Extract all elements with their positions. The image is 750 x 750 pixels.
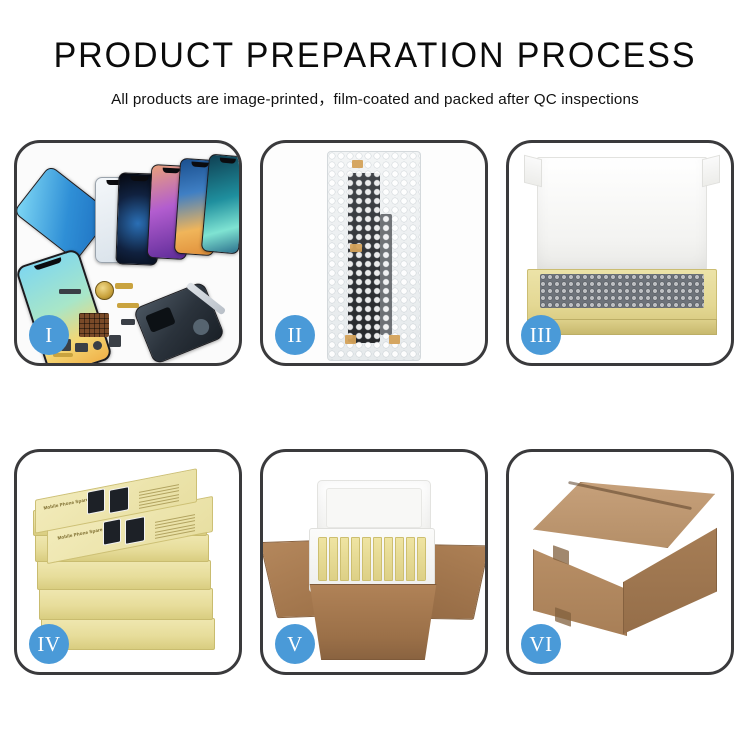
flex-cable-part: [115, 283, 133, 289]
step-panel-4: Mobile Phone Spare Parts Mobile Phone Sp…: [14, 449, 242, 675]
step-panel-2: II: [260, 140, 488, 366]
bubble-wrap-bag: [327, 151, 421, 361]
step-badge-2: II: [275, 315, 315, 355]
small-part: [121, 319, 135, 325]
packed-retail-boxes: [318, 537, 426, 581]
shipping-carton-open: [301, 584, 445, 660]
small-part: [109, 335, 121, 347]
retail-box-side: [37, 560, 211, 590]
bubble-wrapped-contents: [540, 274, 704, 308]
small-part: [93, 341, 102, 350]
step-panel-6: VI: [506, 449, 734, 675]
tape-piece: [352, 160, 363, 168]
process-steps-grid: I II III: [14, 140, 736, 675]
step-panel-1: I: [14, 140, 242, 366]
tape-piece: [350, 244, 362, 252]
step-badge-5: V: [275, 624, 315, 664]
step-badge-6: VI: [521, 624, 561, 664]
tape-piece: [345, 335, 356, 344]
flex-cable-part: [117, 303, 139, 308]
step-panel-5: V: [260, 449, 488, 675]
vibration-coil-part: [95, 281, 114, 300]
tape-piece: [389, 335, 400, 344]
page-title: PRODUCT PREPARATION PROCESS: [11, 38, 739, 73]
inner-box-lid: [537, 157, 707, 277]
box-label-phone-image: [103, 518, 121, 545]
step-badge-4: IV: [29, 624, 69, 664]
phone-rear-housing: [133, 281, 226, 363]
small-part: [59, 289, 81, 294]
small-part: [75, 343, 88, 352]
step-badge-1: I: [29, 315, 69, 355]
box-label-phone-image: [125, 516, 145, 545]
carton-left-face: [533, 530, 627, 636]
step-badge-3: III: [521, 315, 561, 355]
box-label-phone-image: [87, 488, 105, 514]
chip-array-part: [79, 313, 109, 337]
page-header: PRODUCT PREPARATION PROCESS All products…: [0, 0, 750, 109]
page-subtitle: All products are image-printed，film-coat…: [0, 87, 750, 109]
bubble-texture: [328, 152, 420, 360]
retail-box-side: [39, 588, 213, 620]
box-label-phone-image: [109, 486, 129, 514]
foam-box-body: [309, 528, 435, 592]
step-panel-3: III: [506, 140, 734, 366]
